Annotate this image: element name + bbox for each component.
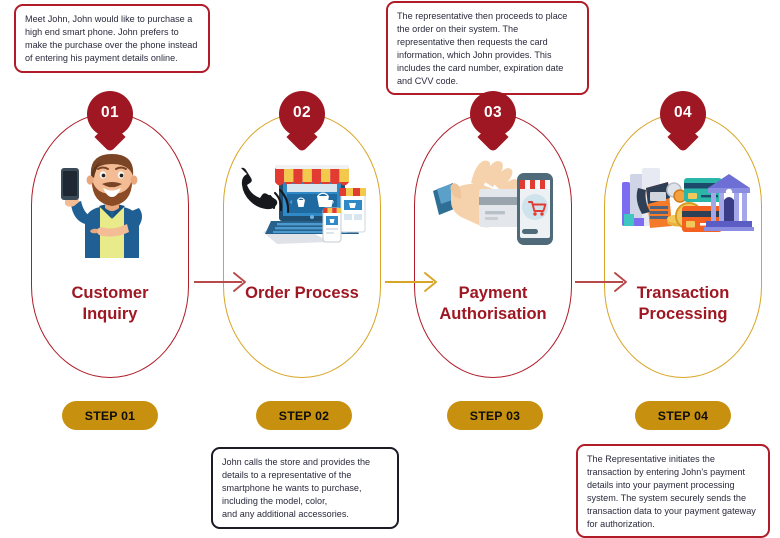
bearded-man-holding-smartphone-icon	[31, 143, 189, 261]
flow-arrow-2	[385, 271, 443, 293]
flow-arrow-3	[575, 271, 633, 293]
step-badge-1: 01	[87, 91, 133, 137]
step-badge-number-2: 02	[293, 105, 311, 121]
step-label-2[interactable]: STEP 02	[256, 401, 352, 430]
step-card-4[interactable]: 04 $	[604, 113, 762, 378]
step-badge-number-3: 03	[484, 105, 502, 121]
hand-credit-card-smartphone-icon	[414, 143, 572, 261]
step-badge-number-1: 01	[101, 105, 119, 121]
step-card-3[interactable]: 03	[414, 113, 572, 378]
step-label-3[interactable]: STEP 03	[447, 401, 543, 430]
flow-diagram: 01	[0, 0, 780, 537]
step-badge-number-4: 04	[674, 105, 692, 121]
pos-terminal-cards-coins-bank-icon: $	[604, 143, 762, 261]
step-badge-4: 04	[660, 91, 706, 137]
step-label-1[interactable]: STEP 01	[62, 401, 158, 430]
flow-arrow-1	[194, 271, 252, 293]
step-badge-2: 02	[279, 91, 325, 137]
step-label-4[interactable]: STEP 04	[635, 401, 731, 430]
step-card-2[interactable]: 02	[223, 113, 381, 378]
step-badge-3: 03	[470, 91, 516, 137]
step-card-1[interactable]: 01	[31, 113, 189, 378]
online-store-laptop-phone-handset-icon: ‹ ›	[223, 143, 381, 261]
step-title-1: Customer Inquiry	[31, 283, 189, 325]
